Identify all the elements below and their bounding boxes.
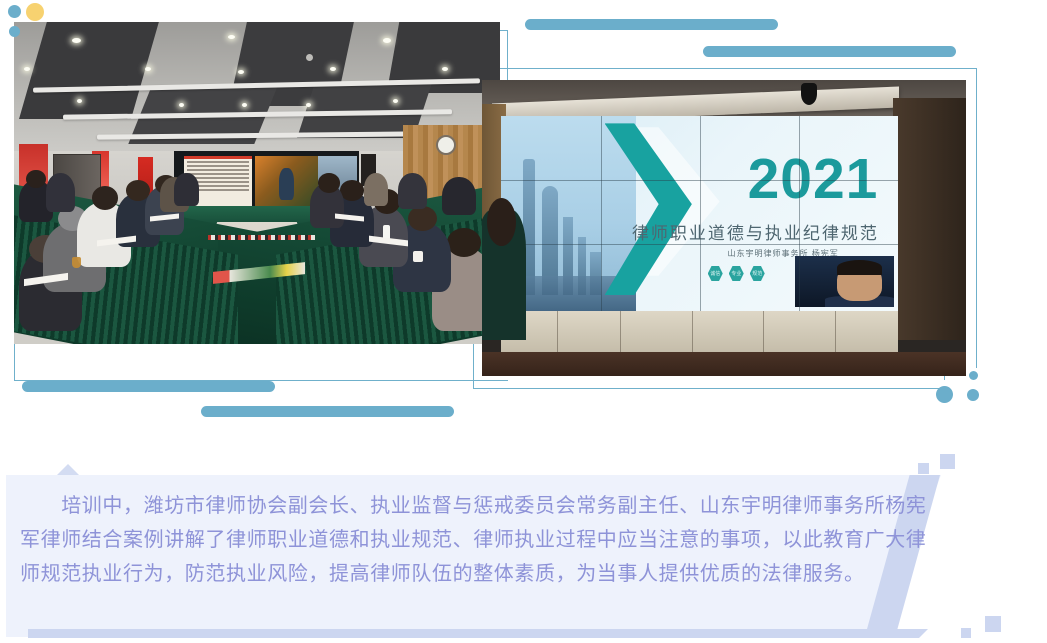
attendee — [318, 173, 340, 192]
ceiling-light — [228, 35, 235, 39]
attendee — [442, 177, 476, 216]
decor-dot-left-small — [9, 26, 20, 37]
cabinet-seam — [620, 311, 621, 355]
attendee — [26, 170, 45, 188]
frame2-line-bottom — [473, 388, 943, 389]
caption-text: 培训中，潍坊市律师协会副会长、执业监督与惩戒委员会常务副主任、山东宇明律师事务所… — [20, 488, 938, 590]
attendee — [174, 173, 198, 205]
decor-dot-right-small-lower — [967, 389, 979, 401]
panel-bottom-bar — [28, 629, 928, 638]
panel-seam — [700, 116, 701, 311]
decor-square-upper-large — [940, 454, 955, 469]
floor — [482, 352, 966, 376]
cabinet-seam — [692, 311, 693, 355]
slide-badge: 规范 — [750, 266, 765, 281]
ceiling-light — [442, 67, 448, 71]
decor-dot-right-small-upper — [969, 371, 978, 380]
video-wall-photo: 2021 律师职业道德与执业纪律规范 山东宇明律师事务所 杨宪军 诚信 专业 规… — [482, 80, 966, 376]
attendee — [364, 173, 388, 205]
panel-seam — [501, 180, 898, 181]
decor-dot-right-large — [936, 386, 953, 403]
wall-clock — [436, 135, 456, 155]
decor-square-upper-small — [918, 463, 929, 474]
slide-badge: 专业 — [729, 266, 744, 281]
decor-bar-top-1 — [525, 19, 778, 30]
cabinet-seam — [557, 311, 558, 355]
ceiling-light — [330, 67, 336, 71]
decor-square-lower-large — [985, 616, 1001, 632]
ceiling-light — [24, 67, 30, 71]
attendee — [447, 228, 481, 257]
panel-seam — [501, 244, 898, 245]
speaker-hair — [837, 260, 883, 275]
cabinet-seam — [835, 311, 836, 355]
cabinet-row — [501, 311, 898, 355]
decor-bar-bottom-2 — [201, 406, 454, 417]
frame2-line-right — [976, 68, 977, 368]
slide-badge-group: 诚信 专业 规范 — [708, 266, 765, 281]
room-scene — [14, 22, 500, 344]
slide-photo-pane — [255, 156, 318, 211]
attendee — [398, 173, 427, 208]
frame2-line-top — [473, 68, 977, 69]
conference-room-photo — [14, 22, 500, 344]
mug — [413, 251, 423, 262]
panel-seam — [601, 116, 602, 311]
projector — [306, 54, 313, 61]
panel-seam — [799, 116, 800, 311]
decor-bar-top-2 — [703, 46, 956, 57]
decor-square-lower-small — [961, 628, 971, 638]
attendee — [46, 173, 75, 212]
decor-dot-top-left-teal — [8, 5, 21, 18]
cabinet-seam — [763, 311, 764, 355]
decor-bar-bottom-1 — [22, 381, 275, 392]
ceiling-light — [306, 103, 311, 107]
video-wall-scene: 2021 律师职业道德与执业纪律规范 山东宇明律师事务所 杨宪军 诚信 专业 规… — [482, 80, 966, 376]
microphone-row — [208, 235, 315, 240]
foreground-attendee-head — [487, 198, 516, 245]
slide-title: 律师职业道德与执业纪律规范 — [620, 219, 890, 244]
tea-glass — [72, 257, 81, 268]
right-wall — [893, 98, 966, 341]
ceiling-light — [242, 103, 247, 107]
attendee — [408, 206, 437, 232]
picture-in-picture-speaker — [795, 256, 894, 307]
slide-badge: 诚信 — [708, 266, 723, 281]
ceiling-light — [179, 103, 184, 107]
decor-dot-top-left-gold — [26, 3, 44, 21]
lcd-video-wall: 2021 律师职业道德与执业纪律规范 山东宇明律师事务所 杨宪军 诚信 专业 规… — [501, 116, 898, 311]
